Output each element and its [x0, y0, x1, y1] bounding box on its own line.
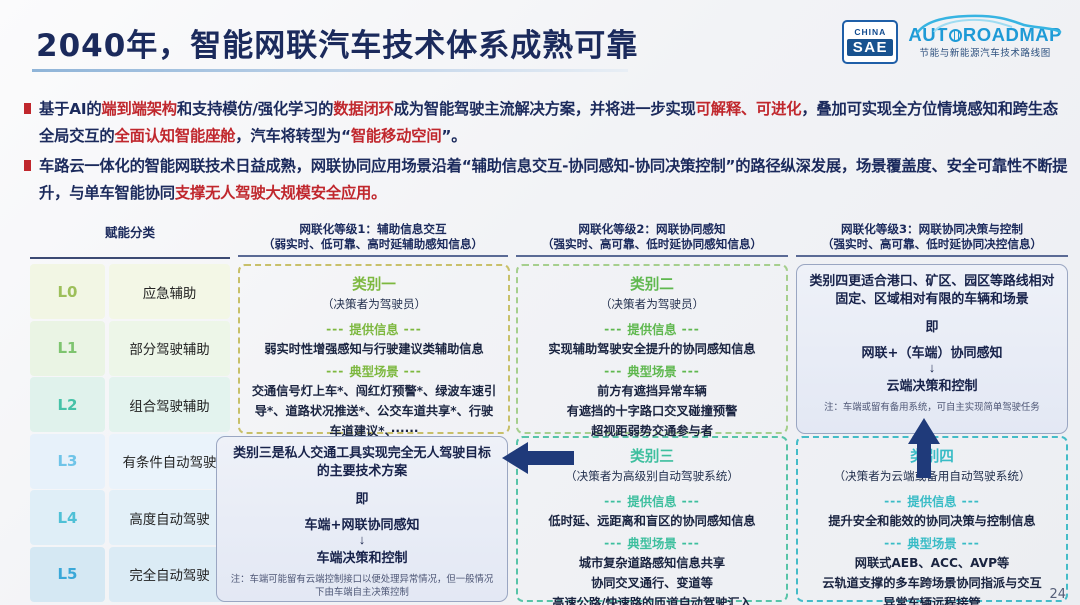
level-row-l0[interactable]: L0应急辅助: [30, 264, 230, 319]
card-cat4-scene-line: 云轨道支撑的多车跨场景协同指派与交互: [806, 574, 1058, 592]
column-header-level2-rule: [516, 255, 788, 257]
level-name-l2: 组合驾驶辅助: [109, 377, 230, 432]
capability-matrix: 赋能分类 网联化等级1：辅助信息交互 （弱实时、低可靠、高时延辅助感知信息） 网…: [20, 222, 1070, 602]
info-label-text: 提供信息: [627, 492, 676, 510]
card-cat1-subtitle: （决策者为驾驶员）: [248, 296, 500, 312]
summary-box-cat4: 类别四更适合港口、矿区、园区等路线相对固定、区域相对有限的车辆和场景 即 网联+…: [796, 264, 1068, 434]
card-cat2-scene-line: 超视距弱势交通参与者: [526, 422, 778, 440]
bullet-item-1: 基于AI的端到端架构和支持模仿/强化学习的数据闭环成为智能驾驶主流解决方案，并将…: [24, 96, 1068, 150]
level-code-l4: L4: [30, 490, 105, 545]
card-cat1-info-text: 弱实时性增强感知与行驶建议类辅助信息: [248, 340, 500, 358]
page-number: 24: [1049, 587, 1066, 602]
bullet-segment: 全面认知智能座舱: [115, 127, 236, 145]
slide-header: 2040年，智能网联汽车技术体系成熟可靠 CHINA SAE AUT ROADM…: [0, 0, 1080, 84]
dash-left: ---: [326, 364, 344, 378]
card-cat4-scene-label: --- 典型场景 ---: [806, 534, 1058, 552]
dash-right: ---: [682, 494, 700, 508]
summary-cat3-note: 注：车端可能留有云端控制接口以便处理异常情况，但一般情况下由车端自主决策控制: [227, 573, 497, 599]
column-header-level3: 网联化等级3：网联协同决策与控制 （强实时、高可靠、低时延协同决控信息）: [796, 222, 1068, 257]
card-cat2-info-text: 实现辅助驾驶安全提升的协同感知信息: [526, 340, 778, 358]
dash-right: ---: [404, 322, 422, 336]
card-cat1-title: 类别一: [248, 273, 500, 294]
card-cat3-info-label: --- 提供信息 ---: [526, 492, 778, 510]
dash-right: ---: [682, 322, 700, 336]
up-pointing-arrow-icon: [906, 418, 942, 478]
dash-left: ---: [884, 494, 902, 508]
card-cat2-scene-label: --- 典型场景 ---: [526, 362, 778, 380]
globe-icon: [949, 29, 962, 42]
column-header-level3-title: 网联化等级3：网联协同决策与控制: [796, 222, 1068, 237]
column-header-level3-rule: [796, 255, 1068, 257]
bullet-segment: ，汽车将转型为“: [235, 127, 351, 145]
level-row-l1[interactable]: L1部分驾驶辅助: [30, 321, 230, 376]
card-cat1-info-label: --- 提供信息 ---: [248, 320, 500, 338]
card-cat4-info-text: 提升安全和能效的协同决策与控制信息: [806, 512, 1058, 530]
scene-label-text: 典型场景: [627, 534, 676, 552]
column-header-level2: 网联化等级2：网联协同感知 （强实时、高可靠、低时延协同感知信息）: [516, 222, 788, 257]
page-title: 2040年，智能网联汽车技术体系成熟可靠: [36, 20, 638, 65]
bullet-segment: 成为智能驾驶主流解决方案，并将进一步实现: [394, 100, 696, 118]
sae-acronym: SAE: [847, 39, 893, 56]
summary-cat3-head: 类别三是私人交通工具实现完全无人驾驶目标的主要技术方案: [227, 445, 497, 481]
card-cat2-subtitle: （决策者为驾驶员）: [526, 296, 778, 312]
left-pointing-arrow-icon: [502, 440, 574, 476]
level-code-l5: L5: [30, 547, 105, 602]
auto-roadmap-logo: AUT ROADMAP 节能与新能源汽车技术路线图: [908, 25, 1062, 59]
car-outline-icon: [914, 14, 1064, 34]
level-row-l2[interactable]: L2组合驾驶辅助: [30, 377, 230, 432]
level-name-l1: 部分驾驶辅助: [109, 321, 230, 376]
card-cat3-scene-line: 协同交叉通行、变道等: [526, 574, 778, 592]
bullet-text-1: 基于AI的端到端架构和支持模仿/强化学习的数据闭环成为智能驾驶主流解决方案，并将…: [39, 96, 1068, 150]
bullet-segment: 和支持模仿/强化学习的: [177, 100, 333, 118]
column-header-level1-title: 网联化等级1：辅助信息交互: [238, 222, 508, 237]
dash-right: ---: [962, 536, 980, 550]
dash-left: ---: [604, 322, 622, 336]
card-cat4-scene-line: 网联式AEB、ACC、AVP等: [806, 554, 1058, 572]
card-cat2-scene-line: 有遮挡的十字路口交叉碰撞预警: [526, 402, 778, 420]
card-cat2: 类别二 （决策者为驾驶员） --- 提供信息 --- 实现辅助驾驶安全提升的协同…: [520, 268, 784, 445]
summary-cat3-mid2: 车端决策和控制: [227, 547, 497, 566]
level-row-l5[interactable]: L5完全自动驾驶: [30, 547, 230, 602]
level-code-l2: L2: [30, 377, 105, 432]
level-row-l3[interactable]: L3有条件自动驾驶: [30, 434, 230, 489]
dash-right: ---: [404, 364, 422, 378]
card-cat2-info-label: --- 提供信息 ---: [526, 320, 778, 338]
column-header-level1: 网联化等级1：辅助信息交互 （弱实时、低可靠、高时延辅助感知信息）: [238, 222, 508, 257]
summary-cat3-down-arrow-icon: ↓: [227, 533, 497, 547]
bullet-list: 基于AI的端到端架构和支持模仿/强化学习的数据闭环成为智能驾驶主流解决方案，并将…: [24, 96, 1068, 210]
level-code-l1: L1: [30, 321, 105, 376]
scene-label-text: 典型场景: [349, 362, 398, 380]
summary-cat3-mid: 车端+网联协同感知: [227, 514, 497, 533]
bullet-segment: 支撑无人驾驶大规模安全应用。: [175, 184, 386, 202]
level-name-l3: 有条件自动驾驶: [109, 434, 230, 489]
level-name-l4: 高度自动驾驶: [109, 490, 230, 545]
card-cat3-info-text: 低时延、远距离和盲区的协同感知信息: [526, 512, 778, 530]
column-header-level3-subtitle: （强实时、高可靠、低时延协同决控信息）: [796, 237, 1068, 252]
info-label-text: 提供信息: [349, 320, 398, 338]
info-label-text: 提供信息: [907, 492, 956, 510]
bullet-item-2: 车路云一体化的智能网联技术日益成熟，网联协同应用场景沿着“辅助信息交互-协同感知…: [24, 153, 1068, 207]
dash-left: ---: [604, 536, 622, 550]
card-cat1-scene-label: --- 典型场景 ---: [248, 362, 500, 380]
bullet-square-icon: [24, 160, 31, 171]
level-name-l0: 应急辅助: [109, 264, 230, 319]
level-name-l5: 完全自动驾驶: [109, 547, 230, 602]
column-header-level2-title: 网联化等级2：网联协同感知: [516, 222, 788, 237]
category-header-rule: [30, 257, 230, 259]
summary-box-cat3: 类别三是私人交通工具实现完全无人驾驶目标的主要技术方案 即 车端+网联协同感知 …: [216, 436, 508, 602]
card-cat3-scene-line: 高速公路/快速路的匝道自动驾驶汇入: [526, 594, 778, 605]
dash-right: ---: [962, 494, 980, 508]
dash-right: ---: [682, 364, 700, 378]
card-cat4-scene-line: 异常车辆远程接管: [806, 594, 1058, 605]
summary-cat4-ji: 即: [807, 316, 1057, 335]
card-cat3-scene-line: 城市复杂道路感知信息共享: [526, 554, 778, 572]
dash-left: ---: [604, 364, 622, 378]
card-cat3-scene-label: --- 典型场景 ---: [526, 534, 778, 552]
summary-cat4-down-arrow-icon: ↓: [807, 361, 1057, 375]
bullet-segment: 基于AI的: [39, 100, 101, 118]
category-column-header: 赋能分类: [30, 222, 230, 241]
level-code-l0: L0: [30, 264, 105, 319]
level-row-l4[interactable]: L4高度自动驾驶: [30, 490, 230, 545]
logo-group: CHINA SAE AUT ROADMAP 节能与新能源汽车技术路线图: [842, 17, 1062, 67]
card-cat4-info-label: --- 提供信息 ---: [806, 492, 1058, 510]
card-cat2-title: 类别二: [526, 273, 778, 294]
summary-cat4-mid: 网联+（车端）协同感知: [807, 342, 1057, 361]
summary-cat3-ji: 即: [227, 488, 497, 507]
dash-right: ---: [682, 536, 700, 550]
bullet-segment: 可解释、可进化: [696, 100, 802, 118]
info-label-text: 提供信息: [627, 320, 676, 338]
bullet-segment: 端到端架构: [101, 100, 177, 118]
summary-cat4-note: 注：车端或留有备用系统，可自主实现简单驾驶任务: [807, 401, 1057, 414]
card-cat2-scene-line: 前方有遮挡异常车辆: [526, 382, 778, 400]
scene-label-text: 典型场景: [627, 362, 676, 380]
summary-cat4-head: 类别四更适合港口、矿区、园区等路线相对固定、区域相对有限的车辆和场景: [807, 273, 1057, 309]
roadmap-subtitle: 节能与新能源汽车技术路线图: [920, 45, 1051, 59]
scene-label-text: 典型场景: [907, 534, 956, 552]
china-sae-logo: CHINA SAE: [842, 20, 898, 64]
card-cat1-scene-line: 交通信号灯上车*、闯红灯预警*、绿波车速引: [248, 382, 500, 400]
bullet-square-icon: [24, 103, 31, 114]
bullet-text-2: 车路云一体化的智能网联技术日益成熟，网联协同应用场景沿着“辅助信息交互-协同感知…: [39, 153, 1068, 207]
bullet-segment: ”。: [441, 127, 466, 145]
column-header-level1-subtitle: （弱实时、低可靠、高时延辅助感知信息）: [238, 237, 508, 252]
dash-left: ---: [326, 322, 344, 336]
bullet-segment: 数据闭环: [333, 100, 393, 118]
level-code-l3: L3: [30, 434, 105, 489]
title-underline: [32, 69, 628, 72]
sae-china-label: CHINA: [854, 28, 886, 37]
column-header-level1-rule: [238, 255, 508, 257]
bullet-segment: 智能移动空间: [351, 127, 442, 145]
summary-cat4-mid2: 云端决策和控制: [807, 375, 1057, 394]
card-cat1-scene-line: 导*、道路状况推送*、公交车道共享*、行驶: [248, 402, 500, 420]
card-cat1: 类别一 （决策者为驾驶员） --- 提供信息 --- 弱实时性增强感知与行驶建议…: [242, 268, 506, 445]
column-header-level2-subtitle: （强实时、高可靠、低时延协同感知信息）: [516, 237, 788, 252]
dash-left: ---: [884, 536, 902, 550]
dash-left: ---: [604, 494, 622, 508]
